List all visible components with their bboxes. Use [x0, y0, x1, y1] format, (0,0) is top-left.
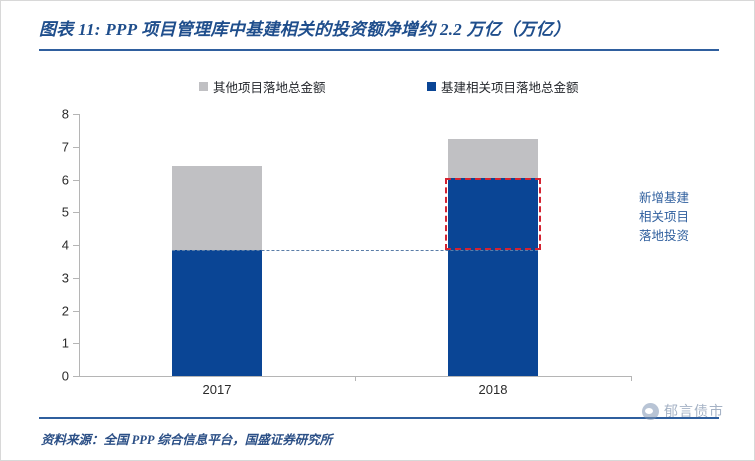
watermark-text: 郁言债市	[664, 401, 724, 421]
x-axis-tick-label: 2018	[453, 382, 533, 397]
y-axis-tick-label: 3	[41, 270, 69, 285]
x-axis-tick-label: 2017	[177, 382, 257, 397]
y-axis-tick	[73, 343, 79, 344]
y-axis-tick-label: 4	[41, 238, 69, 253]
legend-item-infra: 基建相关项目落地总金额	[427, 77, 579, 96]
chart-legend: 其他项目落地总金额 基建相关项目落地总金额	[71, 77, 691, 99]
source-note: 资料来源：全国 PPP 综合信息平台，国盛证券研究所	[41, 429, 332, 448]
bar-segment	[448, 139, 538, 178]
y-axis-tick	[73, 212, 79, 213]
y-axis-tick-label: 8	[41, 107, 69, 122]
y-axis-tick-label: 0	[41, 369, 69, 384]
annotation-line-1: 新增基建	[639, 189, 689, 208]
y-axis-tick	[73, 147, 79, 148]
legend-label-infra: 基建相关项目落地总金额	[441, 77, 579, 96]
plot-area	[79, 114, 631, 376]
footer-divider	[39, 417, 719, 419]
y-axis-tick	[73, 114, 79, 115]
legend-swatch-gray-icon	[199, 82, 208, 91]
y-axis-labels: 012345678	[35, 114, 69, 376]
y-axis-tick	[73, 245, 79, 246]
title-divider	[39, 49, 719, 51]
highlight-box	[445, 178, 541, 250]
page-title: 图表 11: PPP 项目管理库中基建相关的投资额净增约 2.2 万亿（万亿）	[39, 15, 719, 49]
bar-segment	[172, 250, 262, 376]
annotation-line-2: 相关项目	[639, 208, 689, 227]
y-axis-tick-label: 2	[41, 303, 69, 318]
title-text: 图表 11: PPP 项目管理库中基建相关的投资额净增约 2.2 万亿（万亿）	[39, 15, 719, 40]
reference-dashed-line	[172, 250, 538, 251]
y-axis-tick-label: 1	[41, 336, 69, 351]
x-axis-tick	[355, 376, 356, 381]
bar-segment	[172, 166, 262, 250]
y-axis-tick	[73, 180, 79, 181]
y-axis-tick	[73, 278, 79, 279]
y-axis-tick	[73, 376, 79, 377]
legend-label-other: 其他项目落地总金额	[213, 77, 326, 96]
y-axis-tick-label: 6	[41, 172, 69, 187]
wechat-logo-icon	[642, 403, 659, 420]
annotation-line-3: 落地投资	[639, 227, 689, 246]
figure-container: 图表 11: PPP 项目管理库中基建相关的投资额净增约 2.2 万亿（万亿） …	[0, 0, 755, 461]
legend-item-other: 其他项目落地总金额	[199, 77, 326, 96]
y-axis-tick	[73, 311, 79, 312]
legend-swatch-blue-icon	[427, 82, 436, 91]
x-axis-tick	[631, 376, 632, 381]
watermark: 郁言债市	[642, 401, 724, 421]
y-axis-tick-label: 7	[41, 139, 69, 154]
y-axis-tick-label: 5	[41, 205, 69, 220]
annotation-new-infra-investment: 新增基建 相关项目 落地投资	[639, 189, 689, 246]
